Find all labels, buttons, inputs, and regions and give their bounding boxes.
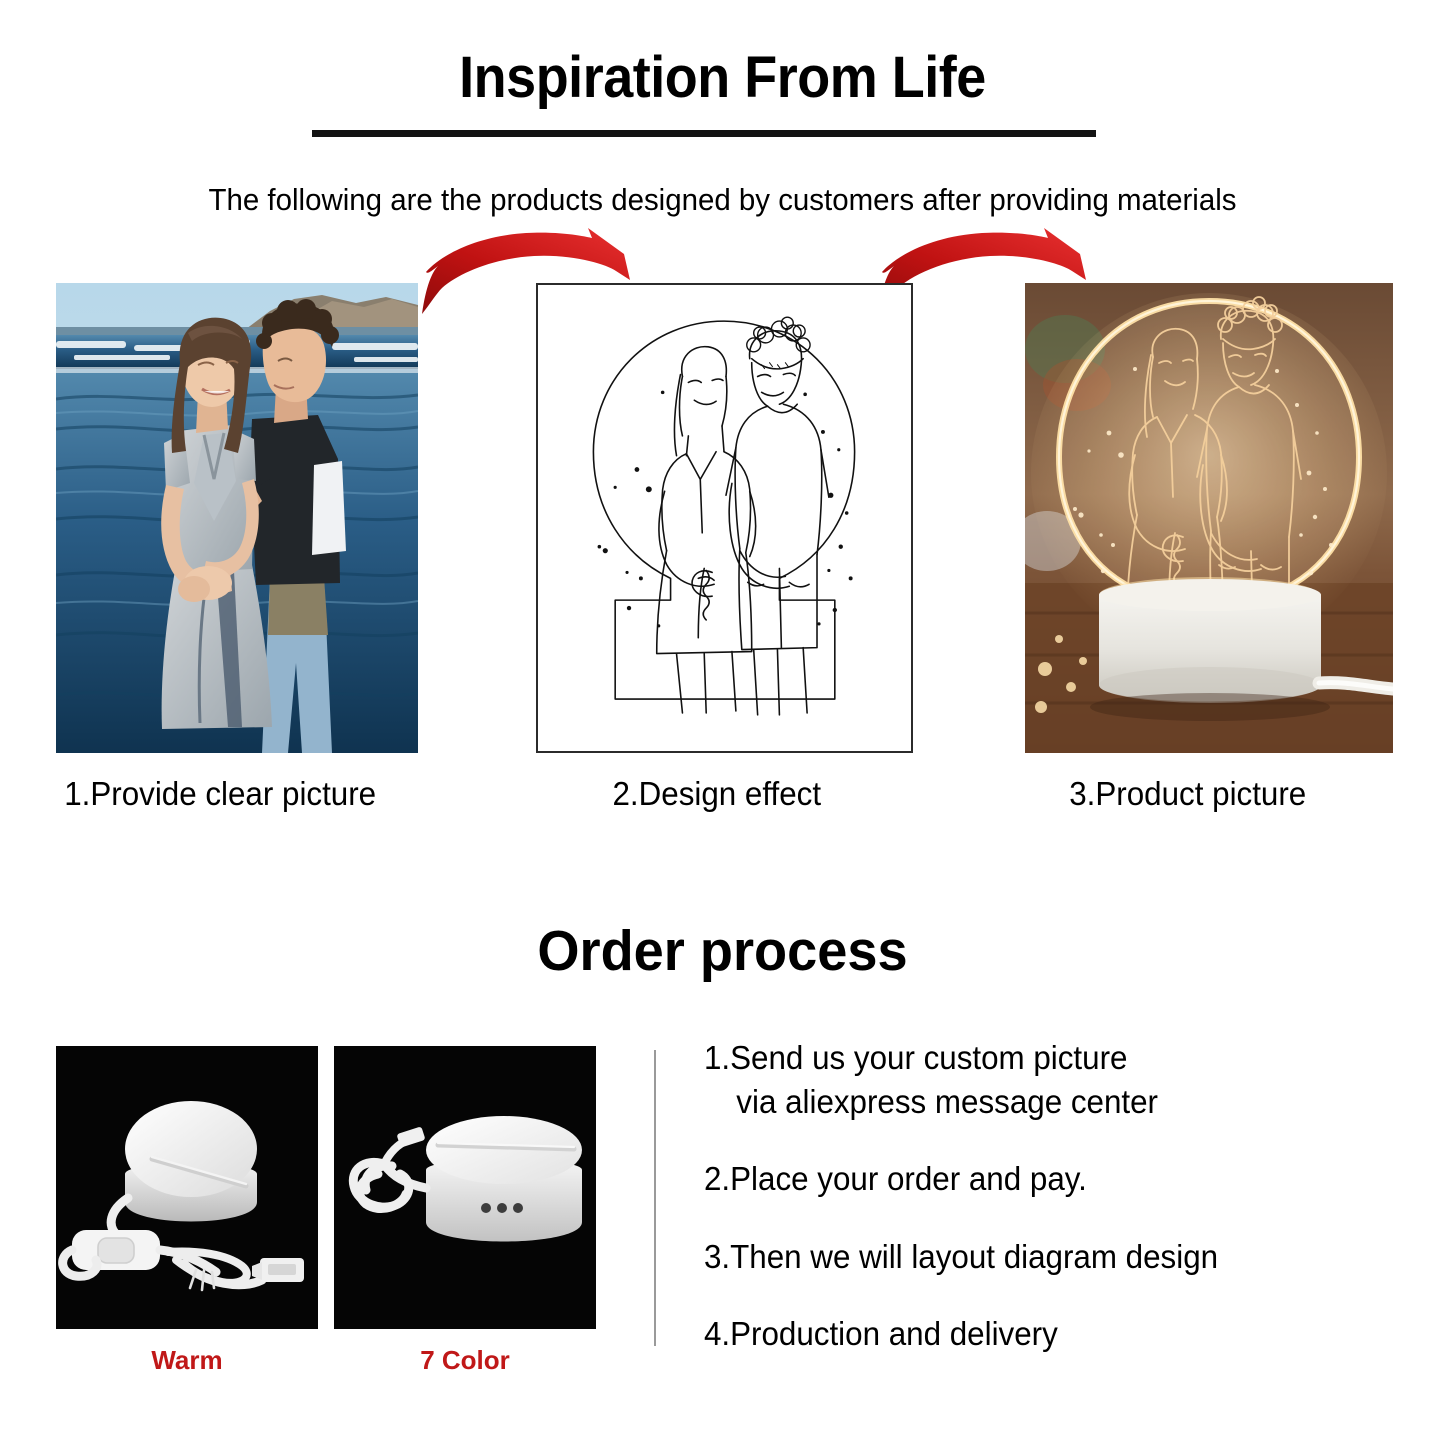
order-step-4: 4.Production and delivery [704, 1312, 1369, 1356]
page-title: Inspiration From Life [51, 48, 1395, 109]
step-caption-2: 2.Design effect [612, 775, 821, 813]
step-caption-1: 1.Provide clear picture [64, 775, 376, 813]
order-step-1: 1.Send us your custom picture via aliexp… [704, 1036, 1369, 1123]
order-process-title: Order process [36, 918, 1409, 984]
order-steps-list: 1.Send us your custom picture via aliexp… [704, 1036, 1404, 1390]
step-image-design-effect [536, 283, 913, 753]
step-image-product-picture [1025, 283, 1393, 753]
order-step-2: 2.Place your order and pay. [704, 1157, 1369, 1201]
product-label-seven-color: 7 Color [334, 1345, 596, 1376]
page-subtitle: The following are the products designed … [36, 182, 1409, 218]
order-step-1-line1: 1.Send us your custom picture [704, 1039, 1127, 1076]
order-steps-divider [654, 1050, 656, 1346]
step-image-provide-clear-picture [56, 283, 418, 753]
product-label-warm: Warm [56, 1345, 318, 1376]
product-image-warm-base [56, 1046, 318, 1329]
step-caption-3: 3.Product picture [1069, 775, 1306, 813]
order-step-1-line2: via aliexpress message center [704, 1080, 1369, 1124]
order-step-3: 3.Then we will layout diagram design [704, 1235, 1369, 1279]
product-image-seven-color-base [334, 1046, 596, 1329]
title-underline-rule [312, 130, 1096, 137]
